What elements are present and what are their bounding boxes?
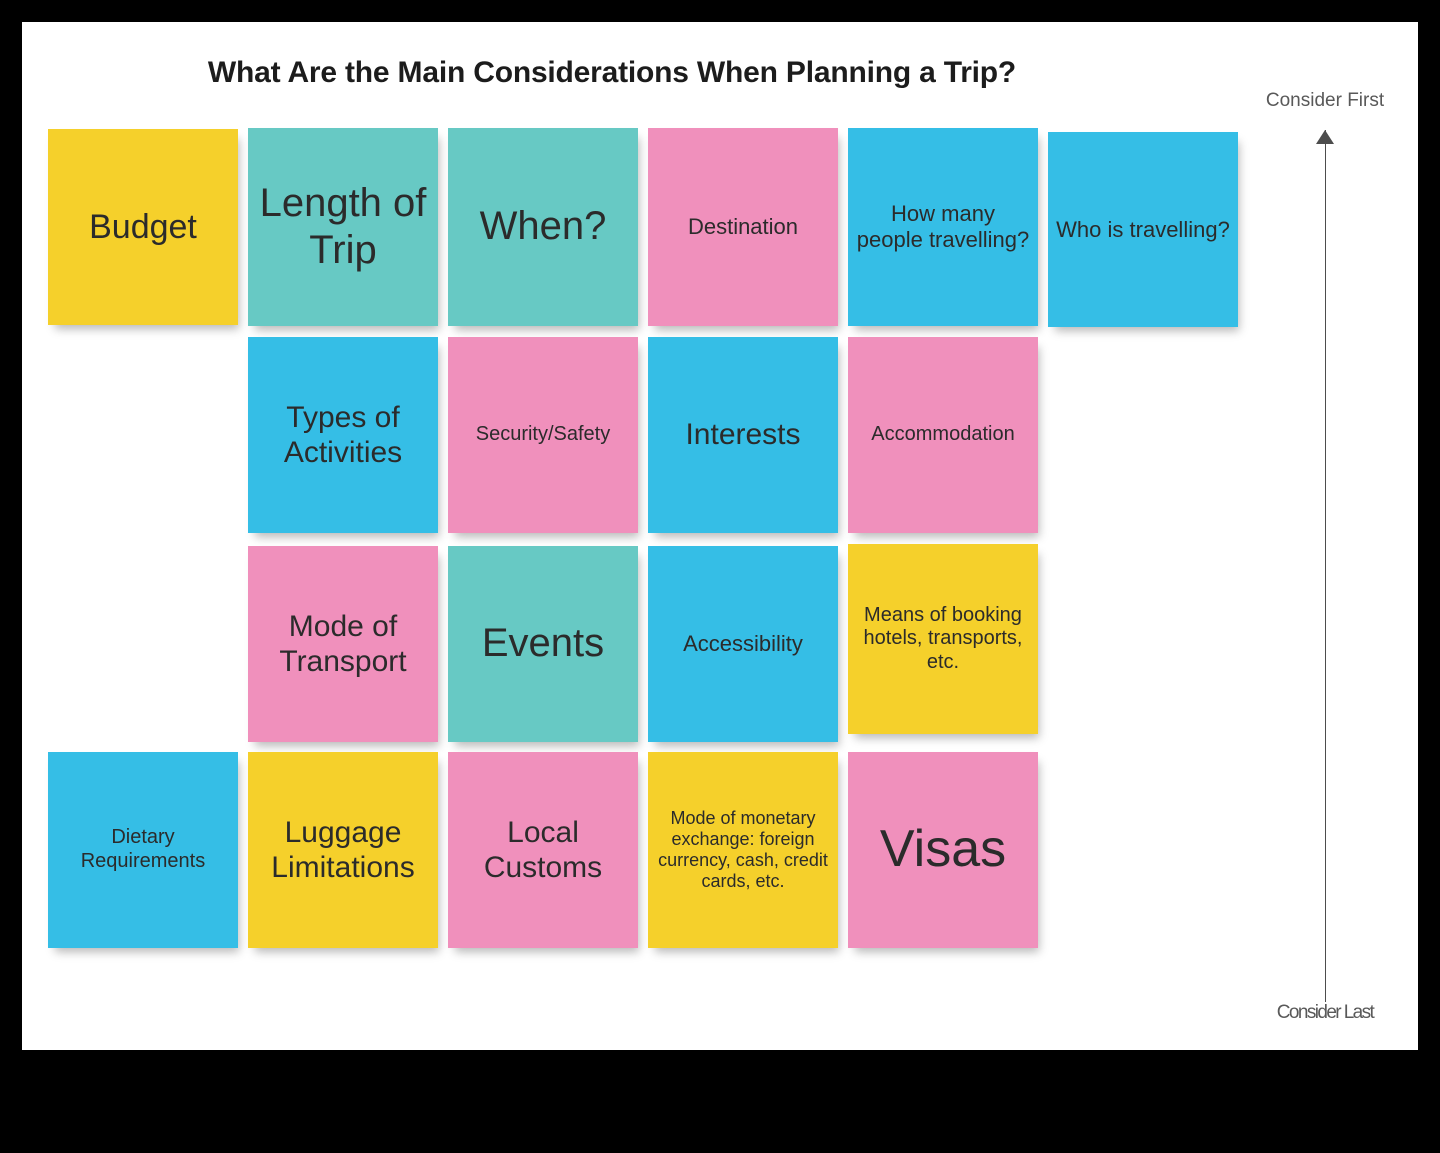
sticky-note-text: Means of booking hotels, transports, etc…	[856, 604, 1030, 675]
sticky-note-local-customs[interactable]: Local Customs	[448, 752, 638, 948]
sticky-note-text: Mode of monetary exchange: foreign curre…	[656, 808, 830, 893]
sticky-note-destination[interactable]: Destination	[648, 128, 838, 326]
sticky-note-interests[interactable]: Interests	[648, 337, 838, 533]
sticky-note-means-of-booking[interactable]: Means of booking hotels, transports, etc…	[848, 544, 1038, 734]
sticky-note-text: Visas	[856, 819, 1030, 880]
sticky-note-text: Accommodation	[856, 423, 1030, 447]
sticky-note-budget[interactable]: Budget	[48, 129, 238, 325]
sticky-note-text: Dietary Requirements	[56, 826, 230, 873]
sticky-note-events[interactable]: Events	[448, 546, 638, 742]
sticky-note-who-is-travelling[interactable]: Who is travelling?	[1048, 132, 1238, 327]
sticky-note-text: Who is travelling?	[1056, 217, 1230, 243]
sticky-note-text: Local Customs	[456, 815, 630, 886]
sticky-note-text: Budget	[56, 207, 230, 247]
sticky-note-mode-of-transport[interactable]: Mode of Transport	[248, 546, 438, 742]
sticky-note-how-many-people[interactable]: How many people travelling?	[848, 128, 1038, 326]
sticky-note-when[interactable]: When?	[448, 128, 638, 326]
sticky-note-dietary-requirements[interactable]: Dietary Requirements	[48, 752, 238, 948]
sticky-note-text: Luggage Limitations	[256, 815, 430, 886]
sticky-note-text: How many people travelling?	[856, 201, 1030, 253]
sticky-note-text: Types of Activities	[256, 400, 430, 471]
sticky-note-accommodation[interactable]: Accommodation	[848, 337, 1038, 533]
whiteboard-canvas: What Are the Main Considerations When Pl…	[22, 22, 1418, 1050]
sticky-note-text: When?	[456, 203, 630, 250]
sticky-note-length-of-trip[interactable]: Length of Trip	[248, 128, 438, 326]
sticky-note-mode-of-monetary-exchange[interactable]: Mode of monetary exchange: foreign curre…	[648, 752, 838, 948]
sticky-note-types-of-activities[interactable]: Types of Activities	[248, 337, 438, 533]
sticky-note-text: Interests	[656, 417, 830, 452]
sticky-note-text: Mode of Transport	[256, 609, 430, 680]
sticky-note-board: Budget Length of Trip When? Destination …	[22, 22, 1418, 1050]
sticky-note-text: Length of Trip	[256, 180, 430, 274]
sticky-note-visas[interactable]: Visas	[848, 752, 1038, 948]
sticky-note-text: Destination	[656, 214, 830, 240]
sticky-note-security-safety[interactable]: Security/Safety	[448, 337, 638, 533]
sticky-note-accessibility[interactable]: Accessibility	[648, 546, 838, 742]
sticky-note-text: Events	[456, 620, 630, 667]
sticky-note-text: Accessibility	[656, 631, 830, 657]
sticky-note-luggage-limitations[interactable]: Luggage Limitations	[248, 752, 438, 948]
sticky-note-text: Security/Safety	[456, 423, 630, 447]
